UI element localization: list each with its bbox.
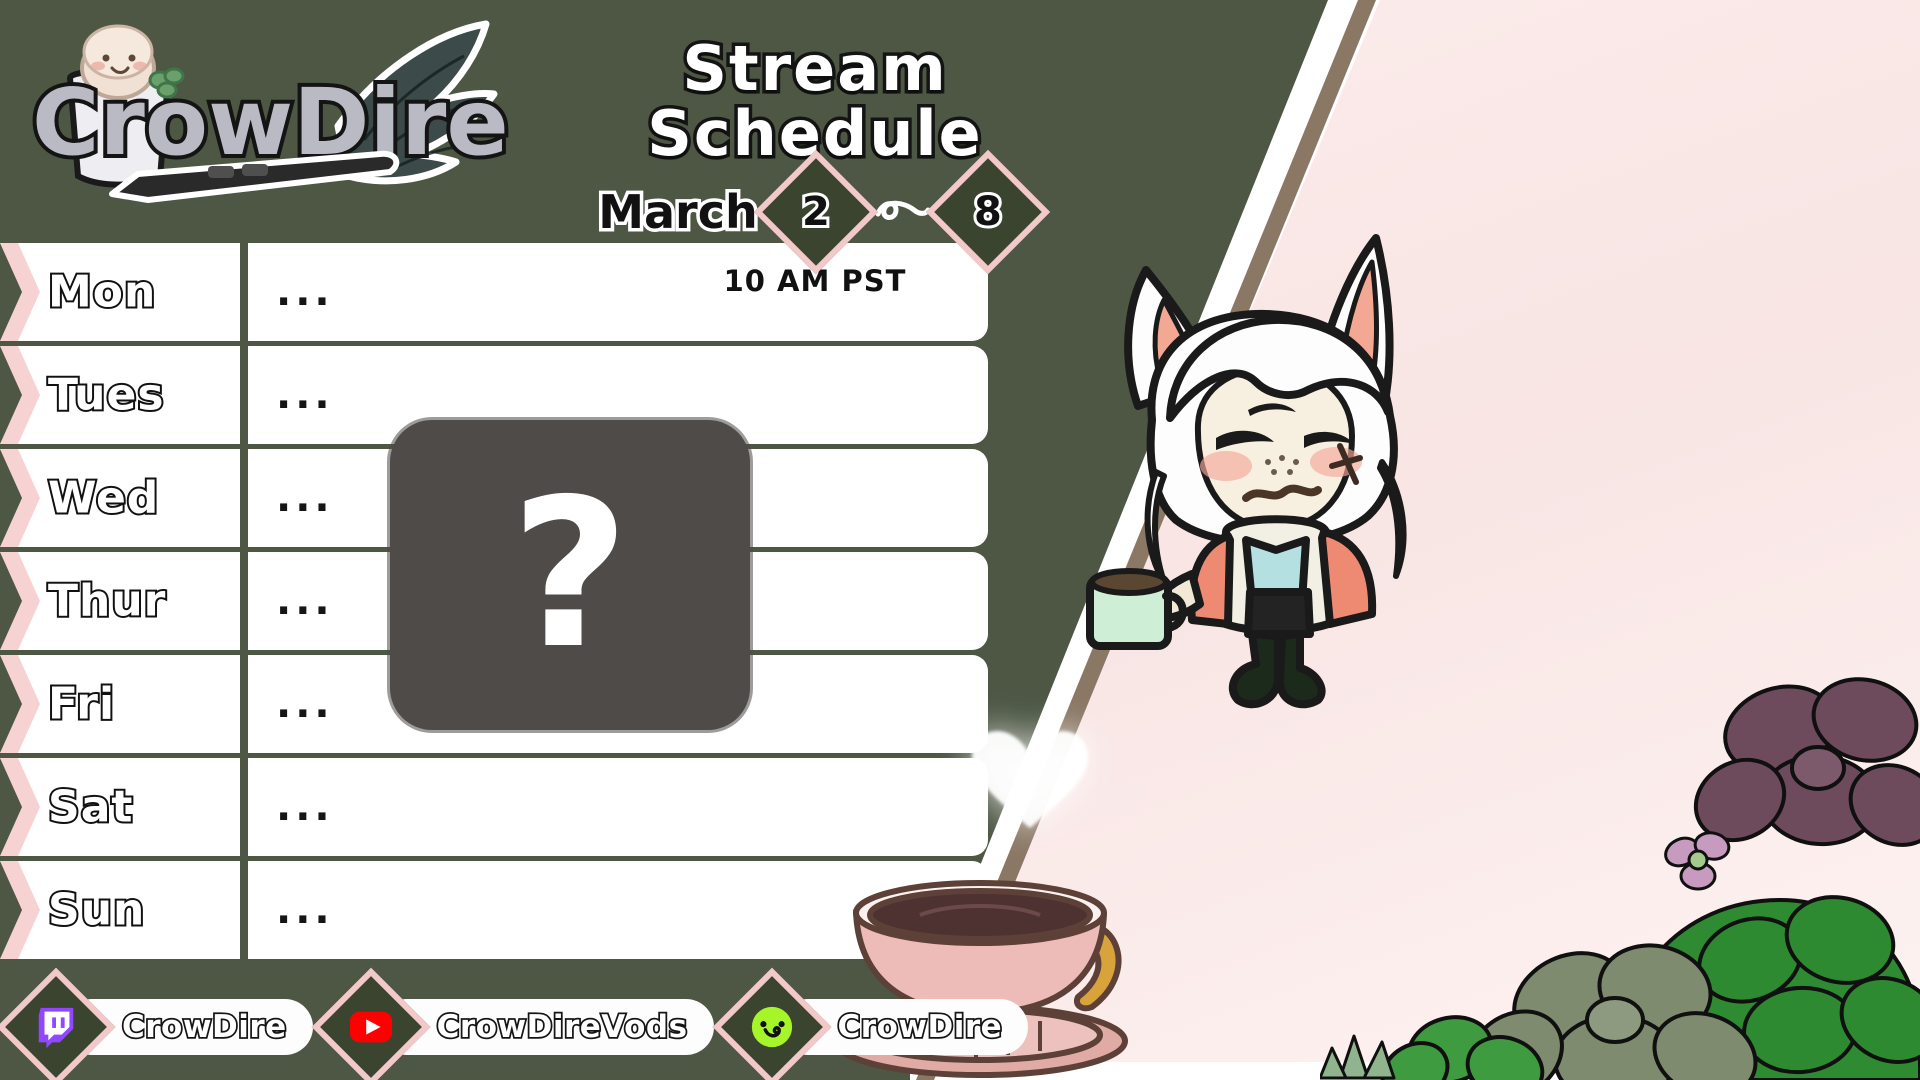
day-label: Sun: [48, 885, 145, 936]
date-range-row: March 2 8: [505, 168, 1125, 256]
question-mark-icon[interactable]: ?: [390, 420, 750, 730]
page-title: Stream Schedule: [505, 36, 1125, 166]
date-start-value: 2: [802, 189, 830, 235]
table-row[interactable]: Sat ...: [0, 758, 980, 856]
day-label: Tues: [48, 370, 165, 421]
logo-wordmark: CrowDire: [32, 69, 509, 176]
twitch-badge: [0, 968, 115, 1080]
social-link-youtube[interactable]: CrowDireVods: [329, 996, 714, 1058]
day-label: Sat: [48, 782, 133, 833]
stream-schedule-graphic: CrowDire Stream Schedule March 2 8: [0, 0, 1920, 1080]
day-content-text: ...: [276, 490, 334, 506]
day-content-text: ...: [276, 387, 334, 403]
youtube-icon: [348, 1004, 394, 1050]
day-content-text: ...: [276, 593, 334, 609]
social-link-throne[interactable]: CrowDire: [730, 996, 1029, 1058]
throne-handle: CrowDire: [838, 1009, 1003, 1045]
day-content-text: ...: [276, 799, 334, 815]
day-label: Fri: [48, 679, 115, 730]
youtube-handle: CrowDireVods: [437, 1009, 688, 1045]
social-links-bar: CrowDire CrowDireVods: [14, 996, 1028, 1058]
social-link-twitch[interactable]: CrowDire: [14, 996, 313, 1058]
youtube-badge: [311, 968, 430, 1080]
header-title-block: Stream Schedule March 2 8 10 AM PST: [505, 36, 1125, 298]
twitch-handle: CrowDire: [122, 1009, 287, 1045]
throne-badge: [712, 968, 831, 1080]
day-content-text: ...: [276, 284, 334, 300]
date-end-value: 8: [974, 189, 1002, 235]
succulent-plants: [1320, 600, 1920, 1080]
throne-icon: [749, 1004, 795, 1050]
twitch-icon: [33, 1004, 79, 1050]
day-label: Mon: [48, 267, 156, 318]
crowdire-logo: CrowDire: [8, 6, 508, 196]
month-label: March: [598, 185, 758, 239]
day-label: Thur: [48, 576, 166, 627]
day-content-text: ...: [276, 902, 334, 918]
swirl-divider-icon: [874, 192, 930, 232]
placeholder-symbol: ?: [511, 491, 630, 659]
day-content-cell[interactable]: ...: [240, 758, 988, 856]
day-content-text: ...: [276, 696, 334, 712]
day-label: Wed: [48, 473, 159, 524]
